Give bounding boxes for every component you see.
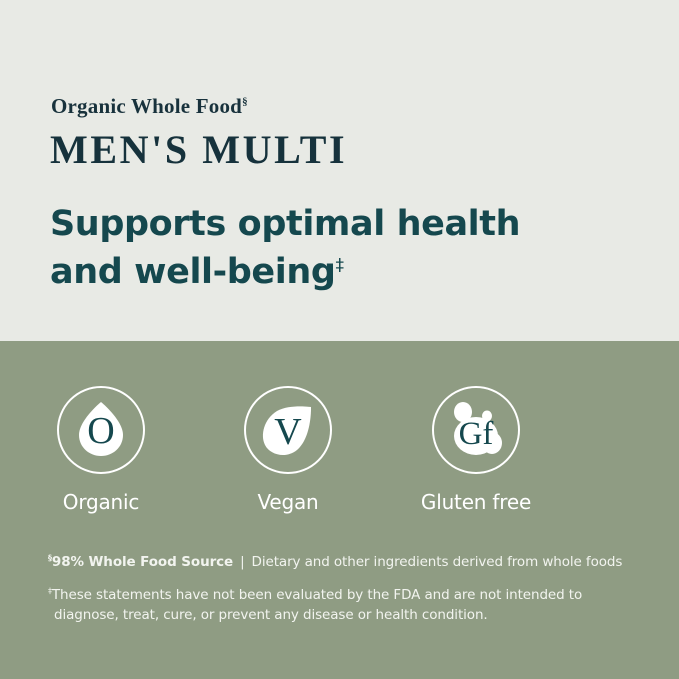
footnote-fda-line-2: diagnose, treat, cure, or prevent any di… — [48, 605, 608, 625]
leaf-o-icon: O — [68, 397, 134, 463]
badge-row: O Organic V Vegan — [0, 386, 679, 556]
header-section: Organic Whole Food§ MEN'S MULTI Supports… — [0, 0, 679, 341]
footnote-fda-line-1: These statements have not been evaluated… — [52, 587, 582, 603]
eyebrow-footnote-marker: § — [242, 96, 248, 108]
footnote-separator: | — [233, 554, 251, 570]
headline-text: Supports optimal health and well-being‡ — [50, 200, 610, 296]
footnotes: §98% Whole Food Source|Dietary and other… — [48, 554, 648, 625]
page-title: MEN'S MULTI — [50, 126, 347, 173]
footnote-source-bold: §98% Whole Food Source — [48, 554, 233, 570]
badge-label-gluten-free: Gluten free — [386, 490, 566, 514]
badge-vegan: V Vegan — [198, 386, 378, 514]
certifications-section: O Organic V Vegan — [0, 341, 679, 679]
badge-label-organic: Organic — [11, 490, 191, 514]
badge-ring-gluten-free: Gf — [432, 386, 520, 474]
svg-text:Gf: Gf — [459, 416, 494, 452]
footnote-source-detail: Dietary and other ingredients derived fr… — [252, 554, 623, 570]
footnote-source: §98% Whole Food Source|Dietary and other… — [48, 554, 648, 570]
product-marketing-panel: Organic Whole Food§ MEN'S MULTI Supports… — [0, 0, 679, 679]
footnote-fda: ‡These statements have not been evaluate… — [48, 585, 608, 625]
headline-line-2: and well-being — [50, 252, 336, 292]
eyebrow-text: Organic Whole Food§ — [51, 94, 248, 119]
eyebrow-label: Organic Whole Food — [51, 94, 242, 118]
grain-gf-icon: Gf — [442, 396, 510, 464]
svg-text:O: O — [87, 410, 114, 452]
headline-line-1: Supports optimal health — [50, 204, 520, 244]
badge-label-vegan: Vegan — [198, 490, 378, 514]
badge-organic: O Organic — [11, 386, 191, 514]
leaf-v-icon: V — [255, 397, 321, 463]
badge-ring-organic: O — [57, 386, 145, 474]
badge-ring-vegan: V — [244, 386, 332, 474]
footnote-source-bold-text: 98% Whole Food Source — [52, 554, 233, 570]
badge-gluten-free: Gf Gluten free — [386, 386, 566, 514]
svg-text:V: V — [274, 411, 302, 453]
headline-footnote-marker: ‡ — [336, 255, 344, 275]
